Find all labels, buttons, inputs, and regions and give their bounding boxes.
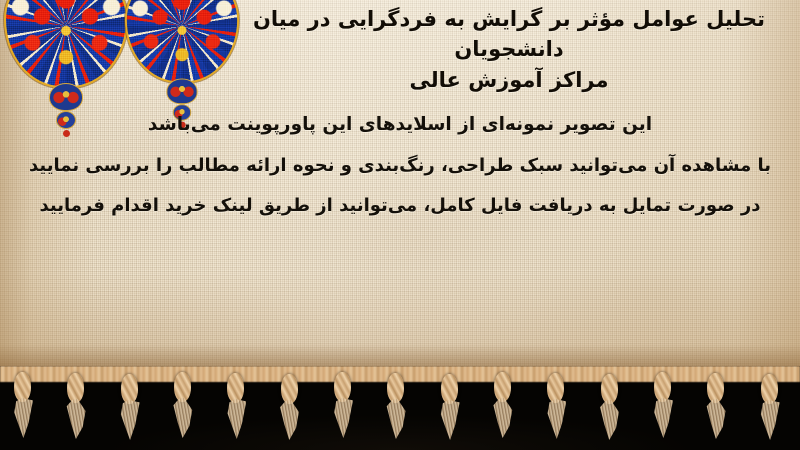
fringe-tassel-knot <box>14 372 31 402</box>
fringe-tassel <box>10 368 36 442</box>
slide-body-line-1: این تصویر نمونه‌ای از اسلایدهای این پاور… <box>0 104 800 146</box>
fringe-tassel-knot <box>601 374 618 404</box>
fringe-tassel <box>383 369 409 443</box>
fringe-tassel-strands <box>653 398 673 438</box>
fringe-tassel <box>597 370 623 444</box>
slide-title: تحلیل عوامل مؤثر بر گرایش به فردگرایی در… <box>236 4 782 95</box>
fringe-tassel-knot <box>67 373 84 403</box>
fringe-tassel <box>650 368 676 442</box>
slide-body-line-2: با مشاهده آن می‌توانید سبک طراحی، رنگ‌بن… <box>0 146 800 187</box>
fringe-tassel-knot <box>387 373 404 403</box>
persian-illumination-medallion-icon-2 <box>127 0 237 81</box>
fringe-tassel <box>170 368 196 442</box>
fringe-tassel-knot <box>174 372 191 402</box>
medallion-pendant-large-2 <box>167 79 196 103</box>
fringe-tassel-strands <box>280 400 300 440</box>
fringe-tassel-knot <box>654 372 671 402</box>
fringe-tassel-strands <box>120 400 140 440</box>
fringe-tassel-strands <box>386 399 406 439</box>
fringe-tassel-knot <box>494 372 511 402</box>
fringe-tassel-strands <box>173 398 193 438</box>
fringe-tassel-strands <box>493 398 513 438</box>
fringe-tassel-knot <box>441 374 458 404</box>
fringe-tassel-knot <box>121 374 138 404</box>
fringe-tassel-knot <box>227 373 244 403</box>
fringe-tassel <box>437 370 463 444</box>
carpet-fringe-band <box>0 366 800 450</box>
fringe-tassel-strands <box>760 400 780 440</box>
fringe-tassel-strands <box>706 399 726 439</box>
slide-body-line-3: در صورت تمایل به دریافت فایل کامل، می‌تو… <box>0 186 800 227</box>
fringe-tassel <box>490 368 516 442</box>
fringe-tassel-knot <box>547 373 564 403</box>
slide-title-line-1: تحلیل عوامل مؤثر بر گرایش به فردگرایی در… <box>253 7 765 61</box>
slide-canvas: تحلیل عوامل مؤثر بر گرایش به فردگرایی در… <box>0 0 800 450</box>
medallion-body <box>6 0 126 86</box>
fringe-tassel-strands <box>13 398 33 438</box>
persian-illumination-medallion-icon <box>6 0 126 86</box>
fringe-tassel-strands <box>600 400 620 440</box>
medallion-body-2 <box>127 0 237 81</box>
fringe-tassel <box>330 368 356 442</box>
fringe-tassel-strands <box>546 399 566 439</box>
fringe-tassel-knot <box>281 374 298 404</box>
fringe-tassel <box>117 370 143 444</box>
fringe-tassel-knot <box>761 374 778 404</box>
fringe-tassel-strands <box>333 398 353 438</box>
fringe-tassel <box>63 369 89 443</box>
fringe-tassel-knot <box>707 373 724 403</box>
fringe-tassel-strands <box>226 399 246 439</box>
slide-title-line-2: مراکز آموزش عالی <box>236 65 782 95</box>
fringe-tassel-knot <box>334 372 351 402</box>
fringe-tassel <box>703 369 729 443</box>
fringe-tassel <box>543 369 569 443</box>
fringe-tassel-strands <box>440 400 460 440</box>
fringe-tassel-strands <box>66 399 86 439</box>
slide-body: این تصویر نمونه‌ای از اسلایدهای این پاور… <box>0 104 800 227</box>
fringe-tassel <box>757 370 783 444</box>
fringe-tassel <box>277 370 303 444</box>
fringe-tassel <box>223 369 249 443</box>
